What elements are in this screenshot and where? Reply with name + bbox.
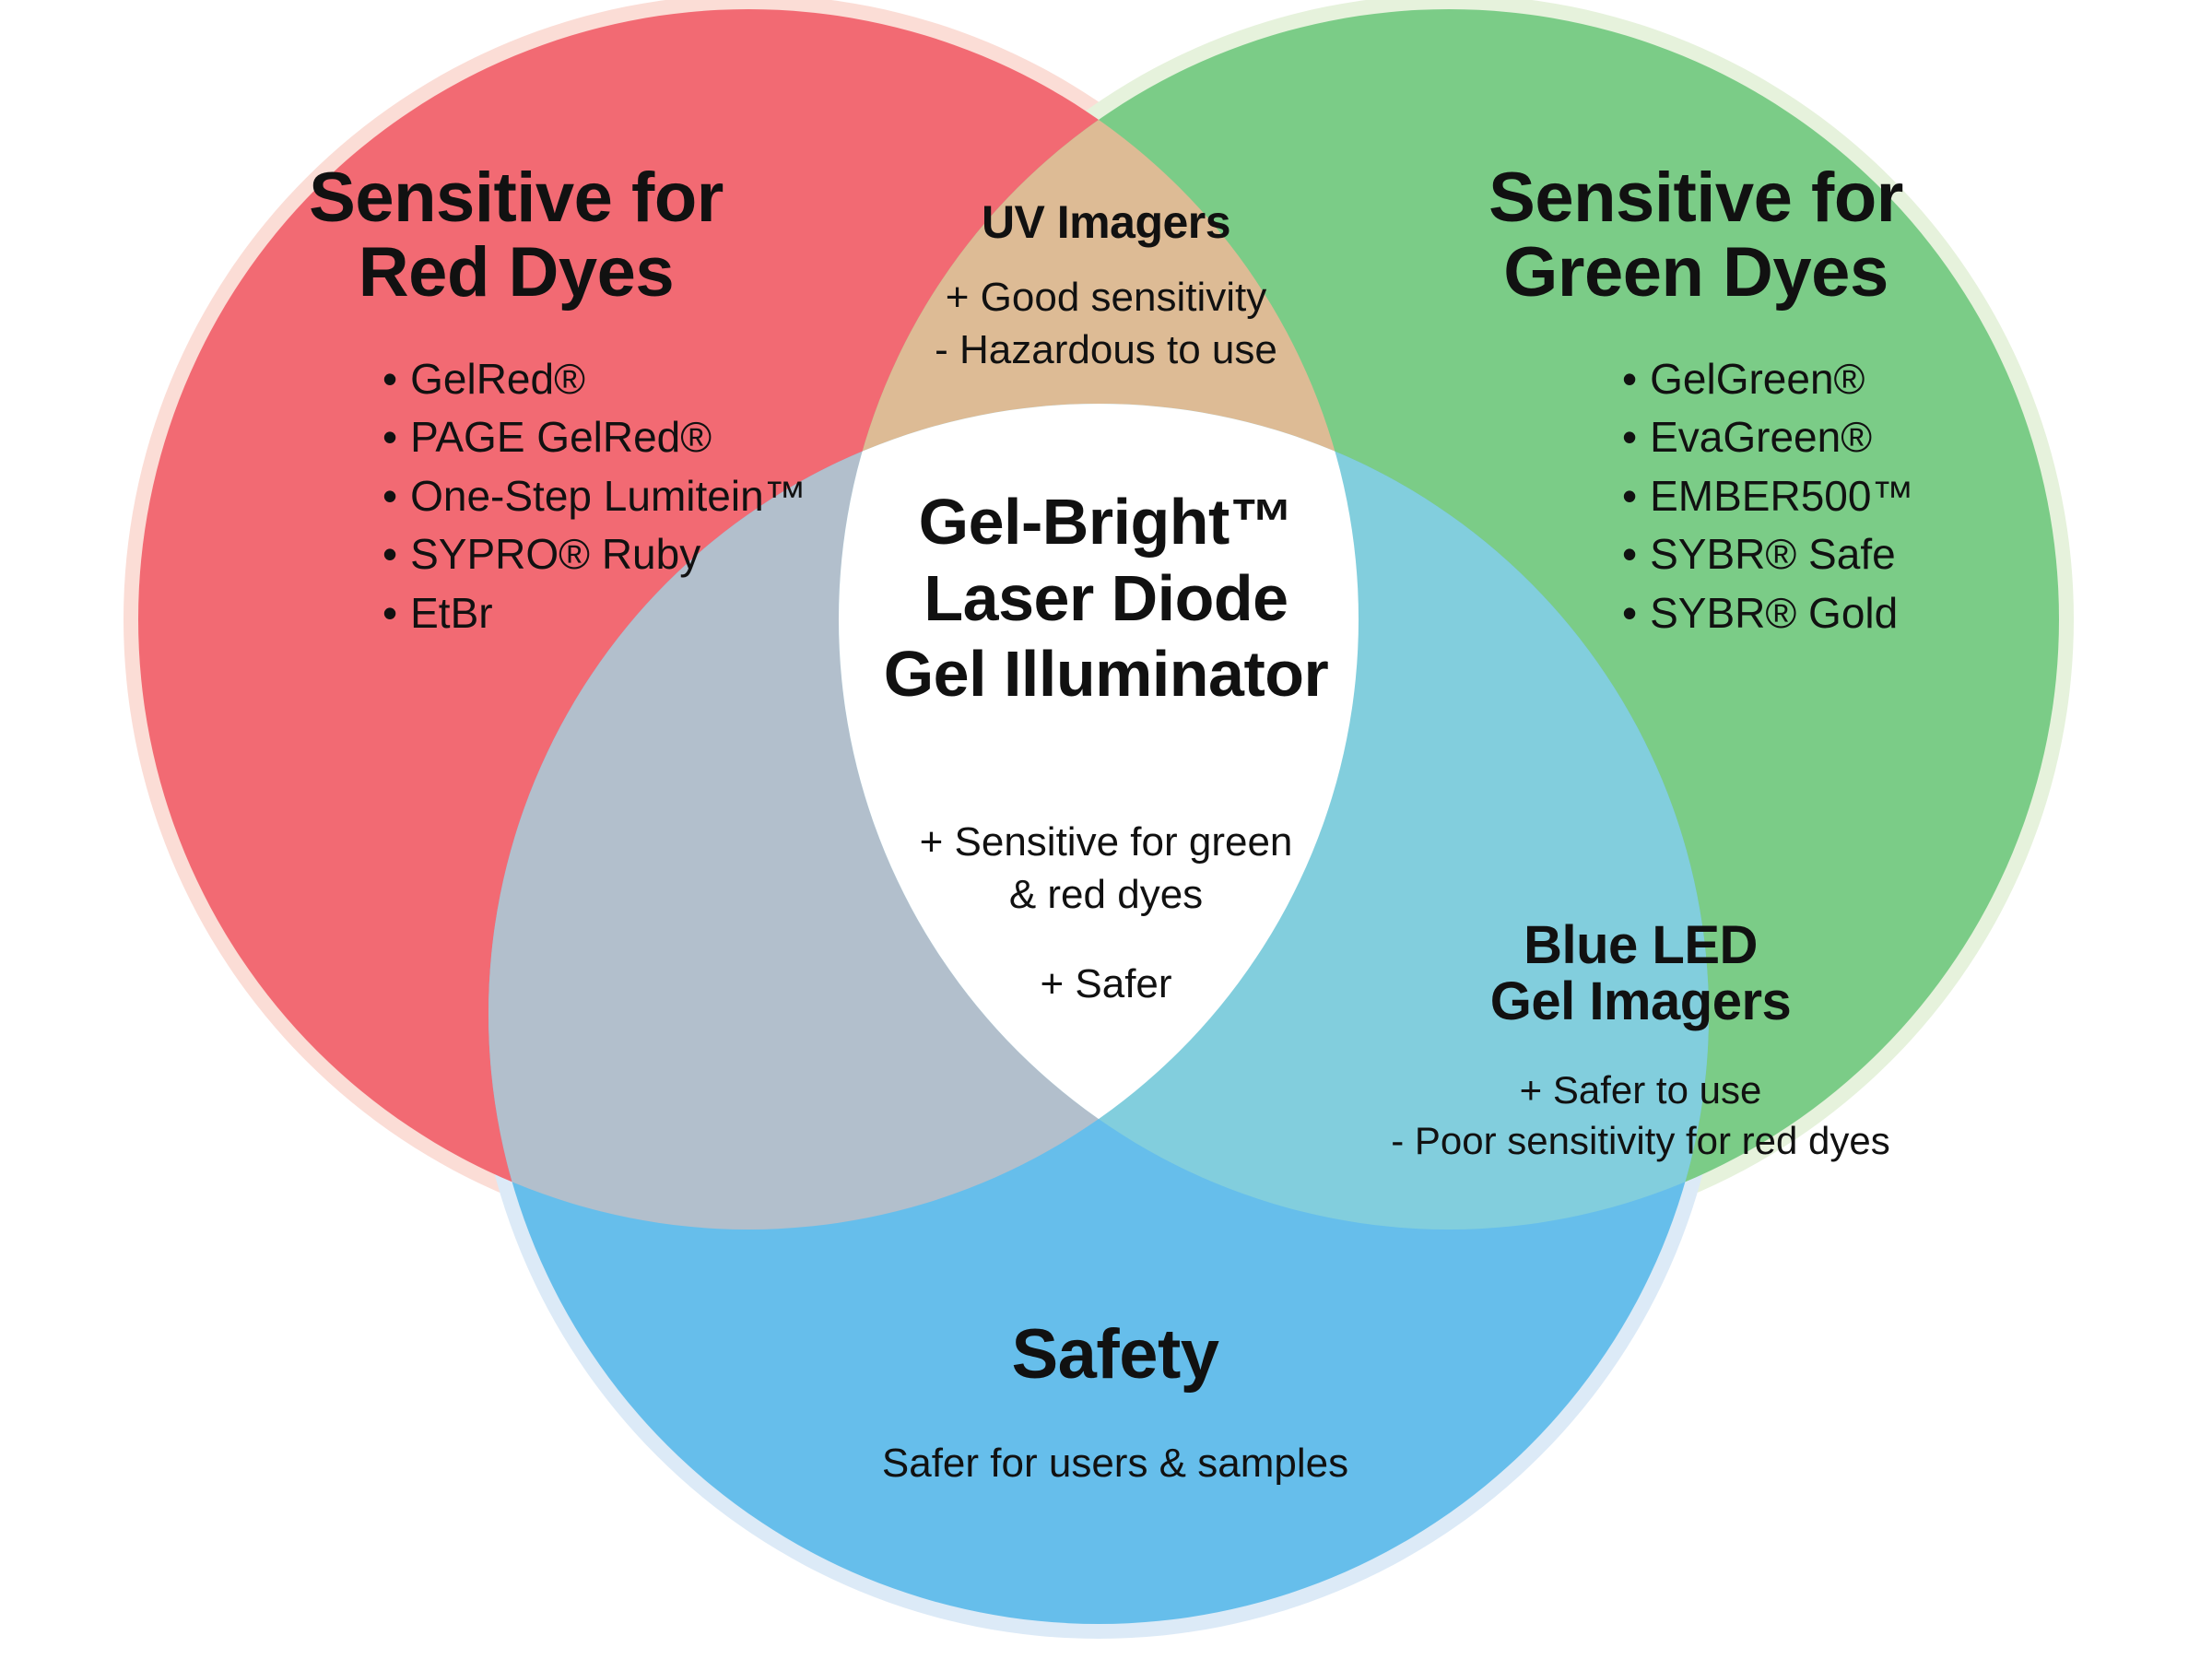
center-title-line2: Laser Diode	[793, 560, 1419, 637]
center-product-title: Gel-Bright™ Laser Diode Gel Illuminator	[793, 484, 1419, 712]
list-item: SYBR® Gold	[1622, 584, 2212, 642]
safety-heading: Safety	[829, 1318, 1401, 1393]
center-pro1-line1: + Sensitive for green	[820, 816, 1392, 868]
red-heading-line1: Sensitive for	[230, 161, 802, 236]
uv-imagers-heading: UV Imagers	[866, 198, 1346, 247]
green-heading-line2: Green Dyes	[1410, 236, 1982, 311]
blue-led-pro: + Safer to use	[1336, 1065, 1945, 1116]
uv-imagers-con: - Hazardous to use	[866, 324, 1346, 376]
blue-led-heading-line2: Gel Imagers	[1336, 973, 1945, 1030]
green-set-dye-list: GelGreen® EvaGreen® EMBER500™ SYBR® Safe…	[1622, 350, 2212, 642]
center-pro2: + Safer	[820, 958, 1392, 1010]
green-set-heading: Sensitive for Green Dyes	[1410, 161, 1982, 310]
uv-imagers-pro: + Good sensitivity	[866, 271, 1346, 324]
safety-set-label: Safety Safer for users & samples	[829, 1318, 1401, 1489]
red-set-heading: Sensitive for Red Dyes	[230, 161, 802, 310]
blue-led-heading-line1: Blue LED	[1336, 917, 1945, 973]
red-heading-line2: Red Dyes	[230, 236, 802, 311]
list-item: GelGreen®	[1622, 350, 2212, 408]
venn-diagram-canvas: Sensitive for Red Dyes GelRed® PAGE GelR…	[0, 0, 2212, 1659]
center-title-line3: Gel Illuminator	[793, 636, 1419, 712]
blue-led-overlap-label: Blue LED Gel Imagers + Safer to use - Po…	[1336, 917, 1945, 1166]
safety-subtitle: Safer for users & samples	[829, 1437, 1401, 1489]
list-item: EMBER500™	[1622, 467, 2212, 525]
list-item: PAGE GelRed®	[382, 408, 1028, 466]
uv-imagers-overlap-label: UV Imagers + Good sensitivity - Hazardou…	[866, 198, 1346, 376]
list-item: EvaGreen®	[1622, 408, 2212, 466]
green-heading-line1: Sensitive for	[1410, 161, 1982, 236]
center-pro1-line2: & red dyes	[820, 868, 1392, 921]
center-title-line1: Gel-Bright™	[793, 484, 1419, 560]
center-benefits: + Sensitive for green & red dyes + Safer	[820, 816, 1392, 1011]
blue-led-heading: Blue LED Gel Imagers	[1336, 917, 1945, 1030]
blue-led-con: - Poor sensitivity for red dyes	[1336, 1116, 1945, 1167]
list-item: SYBR® Safe	[1622, 525, 2212, 583]
